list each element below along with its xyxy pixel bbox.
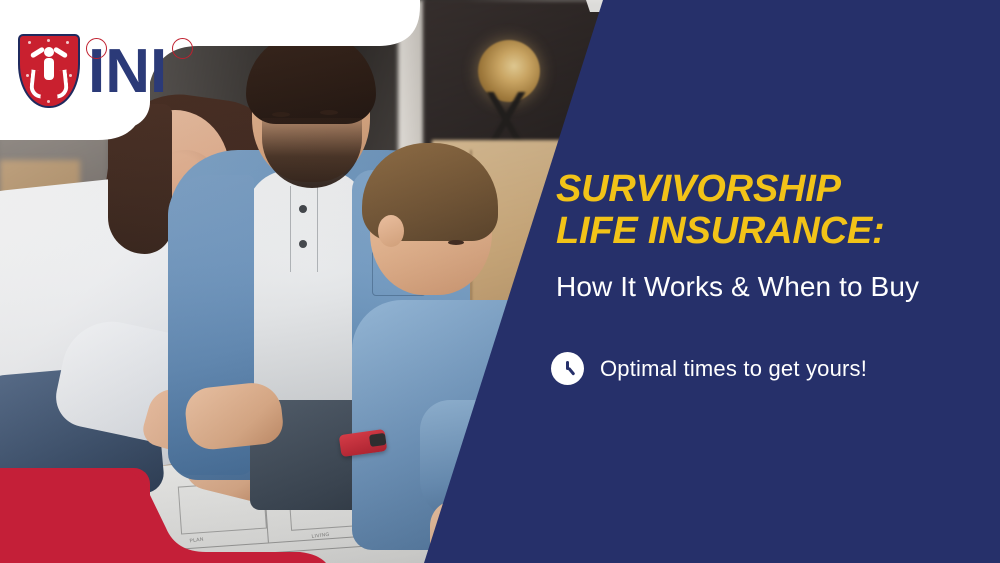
headline-line-1: SURVIVORSHIP bbox=[556, 168, 976, 210]
bullet-text: Optimal times to get yours! bbox=[600, 356, 867, 382]
logo-letter-i2: I bbox=[150, 42, 167, 102]
lamp-stand bbox=[476, 92, 536, 144]
logo-ring-icon-right bbox=[172, 38, 193, 59]
bullet-row: Optimal times to get yours! bbox=[551, 352, 867, 385]
shield-with-person-icon[interactable] bbox=[18, 34, 80, 108]
headline-line-2: LIFE INSURANCE: bbox=[556, 210, 976, 252]
logo-wordmark[interactable]: I N I bbox=[88, 36, 167, 102]
headline: SURVIVORSHIP LIFE INSURANCE: bbox=[556, 168, 976, 252]
figure-body bbox=[44, 58, 54, 80]
logo-ring-icon-left bbox=[86, 38, 107, 59]
man-eye-left bbox=[272, 112, 290, 117]
logo-letter-n: N bbox=[105, 42, 150, 102]
subheadline: How It Works & When to Buy bbox=[556, 271, 919, 303]
figure-head bbox=[44, 47, 54, 57]
man-hand bbox=[183, 380, 285, 452]
clock-hand-minute bbox=[567, 367, 575, 376]
man-eye-right bbox=[320, 110, 338, 115]
survivorship-life-insurance-banner: PLAN LIVING ROOM bbox=[0, 0, 1000, 563]
boy-ear bbox=[378, 215, 404, 247]
henley-placket bbox=[290, 186, 318, 272]
clock-icon bbox=[551, 352, 584, 385]
boy-eye bbox=[448, 240, 464, 245]
